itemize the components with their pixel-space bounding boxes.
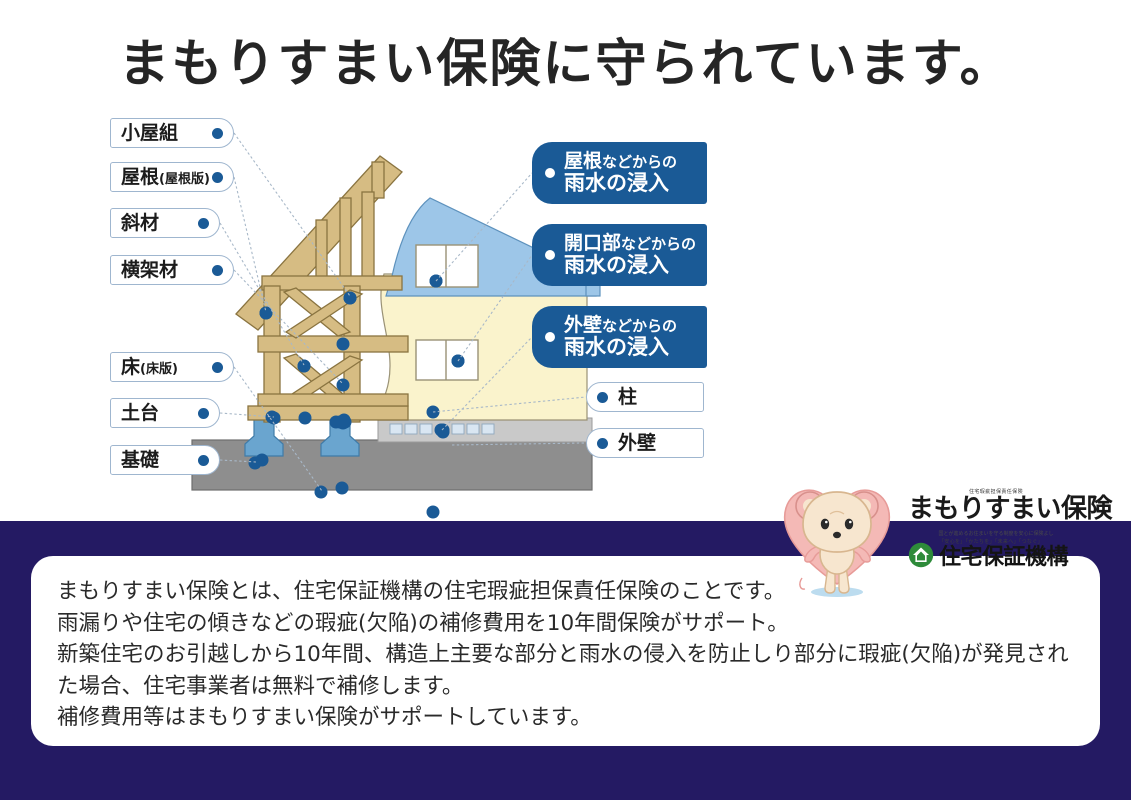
mascot-nose: [833, 532, 841, 538]
label-yuka[interactable]: 床(床版): [110, 352, 234, 382]
callout-dot: [545, 332, 555, 342]
label-dot: [212, 362, 223, 373]
label-yane-text: 屋根(屋根版): [121, 168, 210, 187]
callout-dot: [545, 250, 555, 260]
label-hashira[interactable]: 柱: [586, 382, 704, 412]
label-dot: [198, 218, 209, 229]
callout-roof-line1: 屋根などからの: [564, 151, 677, 172]
logo-micro-subcaption: 国とが進めるお住まいを守る制度を安心に保険よし: [908, 530, 1084, 537]
mascot-mamorin: [772, 472, 902, 600]
label-kiso-text: 基礎: [121, 451, 159, 470]
page-title: まもりすまい保険に守られています。: [0, 22, 1131, 96]
mascot-shadow: [811, 587, 863, 597]
description-line-4: 補修費用等はまもりすまい保険がサポートしています。: [57, 702, 1074, 734]
house-diagram: 小屋組 屋根(屋根版) 斜材 横架材 床(床版) 土台 基礎: [0, 100, 1131, 520]
org-name: 住宅保証機構: [939, 547, 1068, 569]
label-dot: [212, 128, 223, 139]
label-oukazai[interactable]: 横架材: [110, 255, 234, 285]
label-gaiheki-text: 外壁: [618, 434, 656, 453]
label-dot: [198, 408, 209, 419]
label-yuka-text: 床(床版): [121, 358, 178, 377]
label-yane[interactable]: 屋根(屋根版): [110, 162, 234, 192]
description-line-2: 雨漏りや住宅の傾きなどの瑕疵(欠陥)の補修費用を10年間保険がサポート。: [57, 608, 1074, 640]
label-dot: [198, 455, 209, 466]
label-dot: [212, 265, 223, 276]
house-in-circle-icon: [908, 542, 934, 568]
label-dot: [597, 392, 608, 403]
label-koyagumi-text: 小屋組: [121, 124, 178, 143]
mascot-eye-left: [821, 519, 829, 530]
label-shazai-text: 斜材: [121, 214, 159, 233]
logo-brand-name: まもりすまい保険: [908, 496, 1084, 523]
org-lockup: 「安心を」「かたちを」「未来へ」「つなぐ」 住宅保証機構: [908, 540, 1084, 569]
callout-wall-water-intrusion[interactable]: 外壁などからの 雨水の浸入: [532, 306, 707, 368]
callout-opening-line2: 雨水の浸入: [564, 254, 696, 278]
label-gaiheki[interactable]: 外壁: [586, 428, 704, 458]
mascot-eye-right: [845, 519, 853, 530]
callout-roof-line2: 雨水の浸入: [564, 172, 677, 196]
callout-dot: [545, 168, 555, 178]
description-line-3: 新築住宅のお引越しから10年間、構造上主要な部分と雨水の侵入を防止しり部分に瑕疵…: [57, 639, 1074, 702]
brand-logo: 住宅瑕疵担保責任保険 まもりすまい保険 国とが進めるお住まいを守る制度を安心に保…: [908, 488, 1084, 588]
mascot-head: [803, 492, 871, 552]
poster-root: まもりすまい保険に守られています。: [0, 0, 1131, 800]
label-hashira-text: 柱: [618, 388, 637, 407]
callout-opening-line1: 開口部などからの: [564, 233, 696, 254]
label-dot: [597, 438, 608, 449]
label-kiso[interactable]: 基礎: [110, 445, 220, 475]
label-oukazai-text: 横架材: [121, 261, 178, 280]
label-dodai[interactable]: 土台: [110, 398, 220, 428]
callout-wall-line1: 外壁などからの: [564, 315, 677, 336]
label-dodai-text: 土台: [121, 404, 159, 423]
label-shazai[interactable]: 斜材: [110, 208, 220, 238]
callout-opening-water-intrusion[interactable]: 開口部などからの 雨水の浸入: [532, 224, 707, 286]
callout-wall-line2: 雨水の浸入: [564, 336, 677, 360]
callout-roof-water-intrusion[interactable]: 屋根などからの 雨水の浸入: [532, 142, 707, 204]
label-koyagumi[interactable]: 小屋組: [110, 118, 234, 148]
label-dot: [212, 172, 223, 183]
